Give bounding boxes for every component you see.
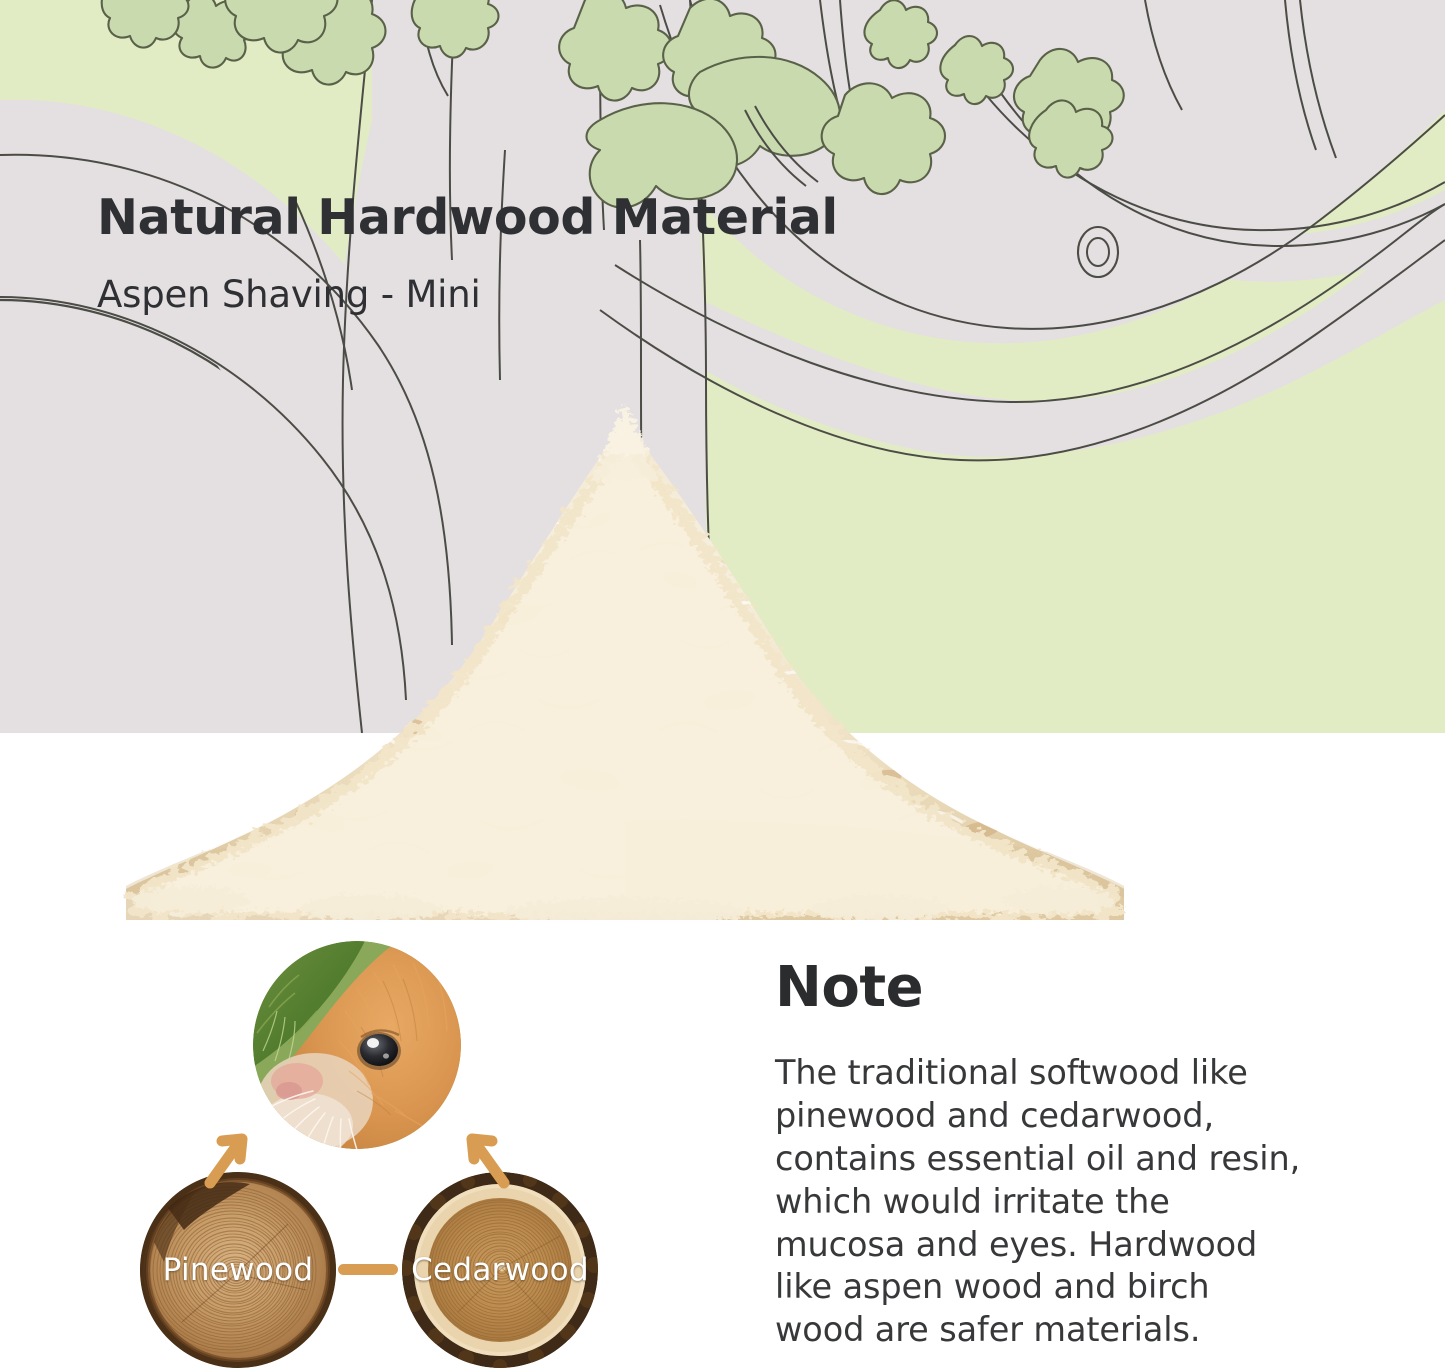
page-subtitle: Aspen Shaving - Mini [97,243,838,316]
note-body: The traditional softwood like pinewood a… [775,1016,1305,1352]
page-title: Natural Hardwood Material [97,192,838,243]
pinewood-label: Pinewood [138,1252,338,1288]
note-block: Note The traditional softwood like pinew… [775,960,1305,1352]
connector-bar [338,1264,398,1275]
infographic-page: .trunk{fill:#e4dfe1;stroke:#4c4c46;strok… [0,0,1445,1370]
aspen-shavings-photo [120,400,1130,920]
wood-comparison-diagram: Pinewood [110,933,650,1370]
note-title: Note [775,960,1305,1016]
hero-text-block: Natural Hardwood Material Aspen Shaving … [97,192,838,316]
connector-arrows [110,933,650,1370]
cedarwood-label: Cedarwood [400,1252,600,1288]
